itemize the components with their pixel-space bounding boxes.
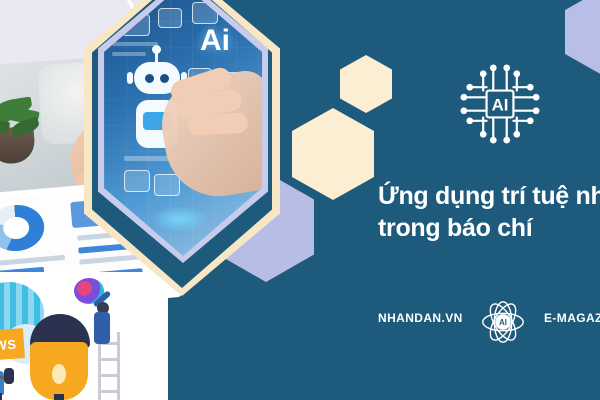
ui-chip-graphic [124,170,150,192]
ai-atom-logo-icon: AI [480,299,526,345]
ui-chip-graphic [154,174,180,196]
text-line [0,255,65,266]
ui-chip-graphic [158,8,182,28]
site-name[interactable]: NHANDAN.VN [378,311,463,325]
news-sign-label: NEWS [0,336,17,354]
photo-ai-text: Ai [200,24,230,58]
donut-chart-graphic [0,203,46,254]
ladder-rung [98,390,120,393]
person-body [94,312,110,344]
magazine-tag: E-MAGAZINE [544,311,600,325]
screen-glow [150,206,210,232]
svg-text:AI: AI [492,96,509,115]
svg-text:AI: AI [499,318,507,327]
robot-ear [127,72,133,84]
footer-bar: NHANDAN.VN AI E-MAGAZINE [378,305,600,337]
ai-chip-icon: AI [458,62,542,146]
reporter-legs [0,393,2,400]
decor-hexagon-lavender-top-right [565,0,600,76]
headline-line-1: Ứng dụng trí tuệ nhân tạo [378,182,600,210]
ui-bar-graphic [112,42,158,46]
lamp-bulb [52,364,66,384]
lamp-stand [54,394,64,400]
news-sign: NEWS [0,328,25,362]
decor-hexagon-cream-small [340,55,392,113]
microphone-icon [4,368,14,384]
banner-canvas: NEWS [0,0,600,400]
ladder-rung [98,358,120,361]
robot-eye [145,74,154,83]
decor-hexagon-cream-large [292,108,374,200]
page-title: Ứng dụng trí tuệ nhân tạo trong báo chí [378,180,600,244]
headline-line-2: trong báo chí [378,212,600,244]
finger-shape [188,112,249,135]
ui-bar-graphic [112,52,146,56]
robot-eye [160,74,169,83]
ladder-rung [98,374,120,377]
